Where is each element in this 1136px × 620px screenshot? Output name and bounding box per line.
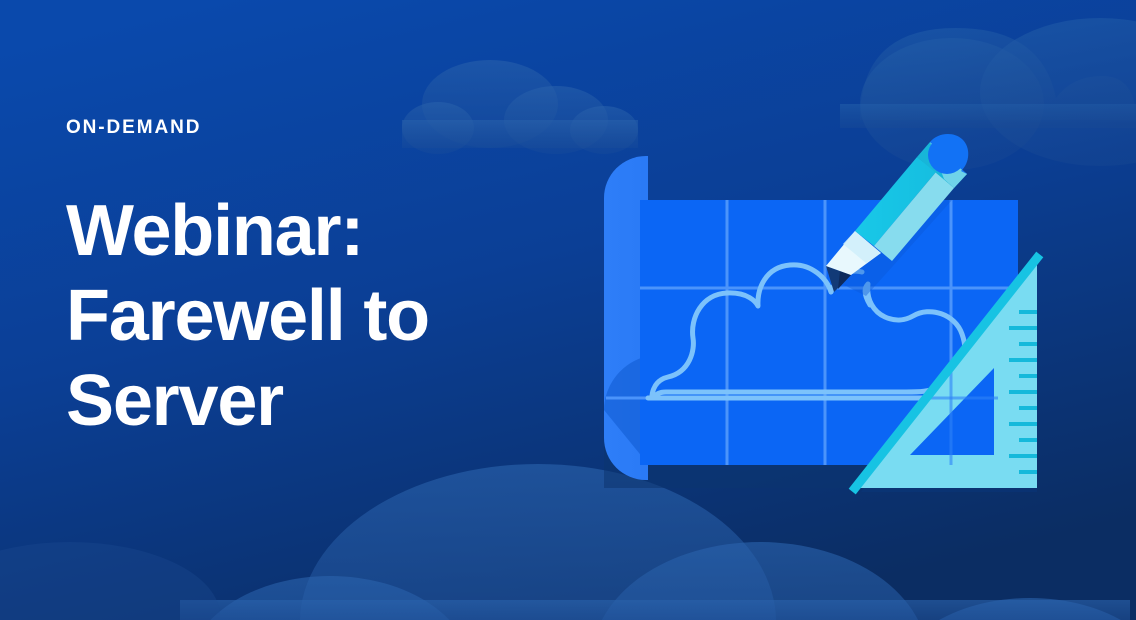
page-title: Webinar: Farewell to Server [66, 189, 586, 444]
eyebrow-label: ON-DEMAND [66, 118, 586, 137]
headline-line-1: Webinar: [66, 189, 586, 274]
headline-line-3: Server [66, 359, 586, 444]
banner-text-block: ON-DEMAND Webinar: Farewell to Server [66, 118, 586, 444]
webinar-banner: ON-DEMAND Webinar: Farewell to Server [0, 0, 1136, 620]
headline-line-2: Farewell to [66, 274, 586, 359]
